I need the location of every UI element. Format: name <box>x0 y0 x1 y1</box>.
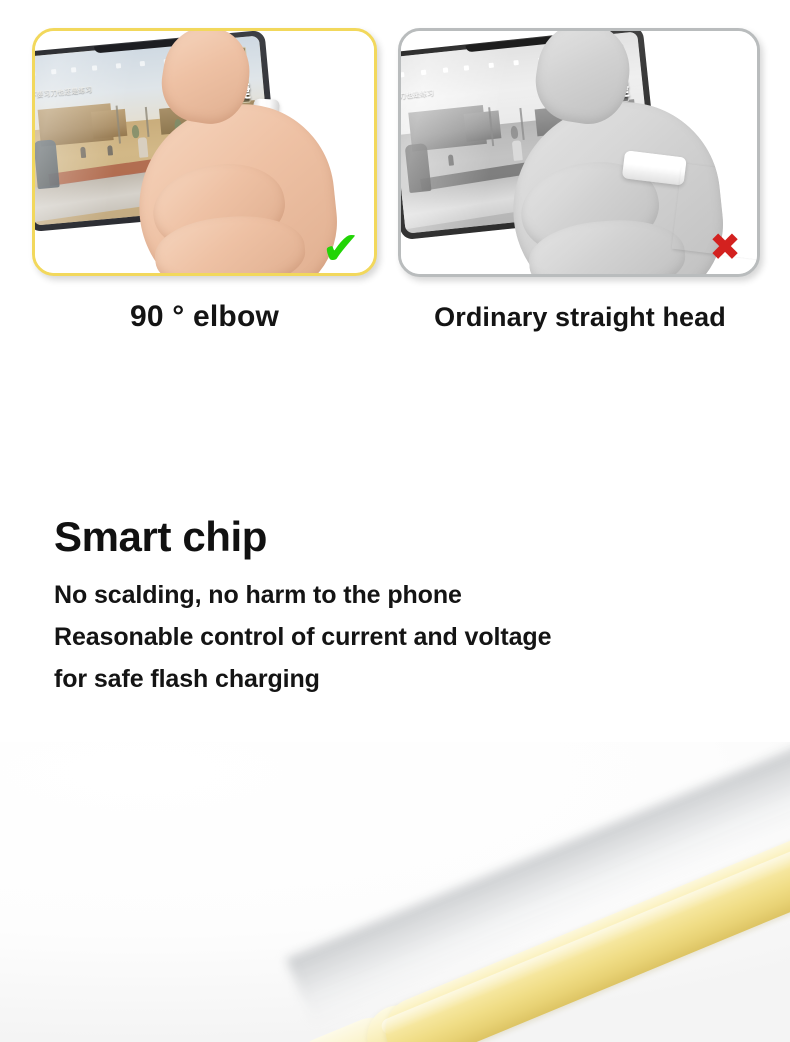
comparison-card-correct: 不要习刀也还是练习 快捷 <box>22 0 387 276</box>
feature-line-2: Reasonable control of current and voltag… <box>54 617 754 659</box>
caption-elbow: 90 ° elbow <box>22 300 387 334</box>
product-cable-photo <box>0 742 790 1042</box>
product-detail-page: 不要习刀也还是练习 快捷 <box>0 0 790 1042</box>
caption-straight: Ordinary straight head <box>389 302 771 333</box>
photo-hand-phone-straight: 刀也是练习 快捷 <box>401 31 757 274</box>
comparison-section: 不要习刀也还是练习 快捷 <box>0 0 790 350</box>
feature-section: Smart chip No scalding, no harm to the p… <box>54 514 754 701</box>
game-character <box>137 137 148 158</box>
game-building <box>464 110 502 142</box>
feature-line-1: No scalding, no harm to the phone <box>54 575 754 617</box>
check-icon: ✔ <box>321 225 360 271</box>
feature-line-3: for safe flash charging <box>54 659 754 701</box>
photo-card-elbow: 不要习刀也还是练习 快捷 <box>32 28 377 276</box>
game-character <box>80 146 86 157</box>
game-character <box>107 146 113 156</box>
comparison-card-incorrect: 刀也是练习 快捷 <box>389 0 771 277</box>
cross-icon: ✖ <box>709 228 741 266</box>
game-building <box>91 109 127 139</box>
feature-heading: Smart chip <box>54 514 754 559</box>
photo-card-straight: 刀也是练习 快捷 <box>398 28 760 277</box>
